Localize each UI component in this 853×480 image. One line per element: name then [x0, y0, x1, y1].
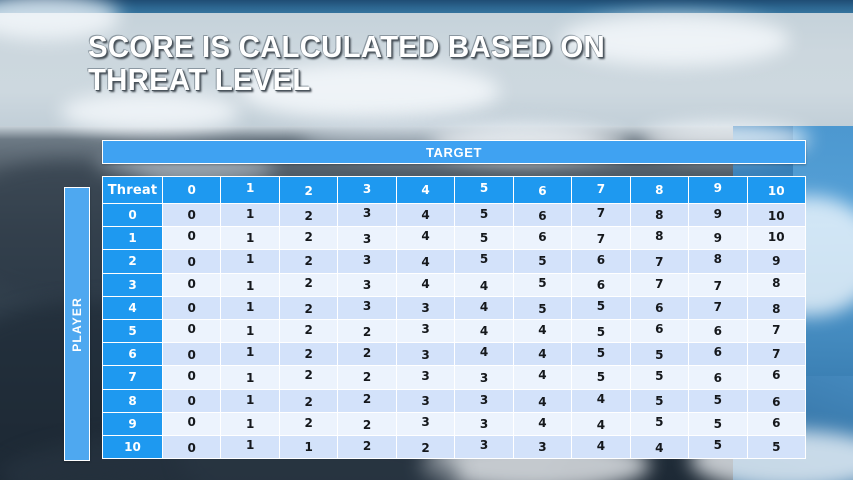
matrix-cell: 8 — [630, 204, 688, 227]
matrix-cell: 4 — [455, 273, 513, 296]
matrix-cell: 0 — [163, 296, 221, 319]
matrix-col-header: 6 — [513, 177, 571, 204]
matrix-cell: 3 — [338, 250, 396, 273]
matrix-cell: 6 — [513, 227, 571, 250]
matrix-cell: 6 — [689, 343, 747, 366]
matrix-cell: 3 — [396, 296, 454, 319]
matrix-cell: 2 — [279, 250, 337, 273]
matrix-cell: 0 — [163, 319, 221, 342]
matrix-cell: 2 — [279, 204, 337, 227]
matrix-cell: 2 — [279, 319, 337, 342]
matrix-cell: 5 — [455, 227, 513, 250]
matrix-cell: 1 — [221, 435, 279, 458]
page-title: SCORE IS CALCULATED BASED ON THREAT LEVE… — [88, 30, 696, 96]
player-axis-bar: PLAYER — [64, 187, 90, 461]
matrix-row-header: 10 — [103, 435, 163, 458]
matrix-col-header: 1 — [221, 177, 279, 204]
matrix-col-header: 8 — [630, 177, 688, 204]
matrix-cell: 2 — [279, 366, 337, 389]
matrix-cell: 9 — [689, 227, 747, 250]
matrix-cell: 5 — [747, 435, 805, 458]
matrix-cell: 4 — [572, 412, 630, 435]
matrix-cell: 7 — [630, 273, 688, 296]
matrix-cell: 5 — [630, 389, 688, 412]
table-row: 301234456778 — [103, 273, 806, 296]
table-row: 701223345566 — [103, 366, 806, 389]
matrix-cell: 4 — [572, 389, 630, 412]
matrix-cell: 2 — [338, 435, 396, 458]
matrix-body: 0012345678910101234567891020123455678930… — [103, 204, 806, 459]
matrix-cell: 4 — [513, 412, 571, 435]
matrix-cell: 4 — [396, 227, 454, 250]
matrix-cell: 6 — [630, 319, 688, 342]
matrix-cell: 2 — [279, 296, 337, 319]
matrix-cell: 2 — [338, 343, 396, 366]
matrix-cell: 1 — [279, 435, 337, 458]
matrix-cell: 1 — [221, 389, 279, 412]
matrix-cell: 5 — [689, 389, 747, 412]
matrix-cell: 7 — [689, 296, 747, 319]
matrix-cell: 5 — [455, 204, 513, 227]
matrix-row-header: 5 — [103, 319, 163, 342]
matrix-cell: 5 — [572, 343, 630, 366]
matrix-cell: 3 — [396, 366, 454, 389]
matrix-cell: 0 — [163, 389, 221, 412]
matrix-cell: 9 — [689, 204, 747, 227]
matrix-cell: 4 — [396, 250, 454, 273]
target-axis-label: TARGET — [426, 145, 482, 160]
matrix-cell: 5 — [630, 412, 688, 435]
matrix-cell: 4 — [630, 435, 688, 458]
matrix-col-header: 9 — [689, 177, 747, 204]
matrix-cell: 1 — [221, 366, 279, 389]
cloud-wisp-4 — [60, 92, 240, 132]
matrix-cell: 3 — [455, 366, 513, 389]
matrix-cell: 5 — [572, 366, 630, 389]
matrix-row-header: 2 — [103, 250, 163, 273]
matrix-cell: 3 — [513, 435, 571, 458]
matrix-cell: 6 — [689, 366, 747, 389]
top-blue-strip — [0, 0, 853, 13]
matrix-cell: 2 — [338, 319, 396, 342]
matrix-cell: 7 — [747, 343, 805, 366]
matrix-cell: 8 — [689, 250, 747, 273]
matrix-cell: 2 — [279, 273, 337, 296]
matrix-col-header: 2 — [279, 177, 337, 204]
matrix-cell: 1 — [221, 343, 279, 366]
matrix-col-header: 7 — [572, 177, 630, 204]
matrix-corner-header: Threat — [103, 177, 163, 204]
matrix-cell: 6 — [572, 273, 630, 296]
matrix-cell: 5 — [513, 250, 571, 273]
matrix-cell: 5 — [572, 296, 630, 319]
matrix-cell: 4 — [455, 319, 513, 342]
matrix-cell: 1 — [221, 204, 279, 227]
matrix-cell: 8 — [747, 273, 805, 296]
matrix-cell: 7 — [572, 204, 630, 227]
matrix-cell: 5 — [689, 435, 747, 458]
matrix-cell: 3 — [396, 343, 454, 366]
matrix-cell: 0 — [163, 366, 221, 389]
matrix-row-header: 8 — [103, 389, 163, 412]
matrix-cell: 3 — [455, 435, 513, 458]
matrix-cell: 4 — [513, 366, 571, 389]
matrix-cell: 1 — [221, 273, 279, 296]
matrix-cell: 3 — [396, 319, 454, 342]
matrix-row-header: 3 — [103, 273, 163, 296]
matrix-cell: 7 — [747, 319, 805, 342]
matrix-cell: 1 — [221, 250, 279, 273]
matrix-cell: 3 — [455, 389, 513, 412]
matrix-cell: 6 — [572, 250, 630, 273]
matrix-cell: 2 — [338, 412, 396, 435]
matrix-cell: 0 — [163, 273, 221, 296]
target-axis-bar: TARGET — [102, 140, 806, 164]
matrix-cell: 2 — [279, 412, 337, 435]
matrix-row-header: 0 — [103, 204, 163, 227]
matrix-cell: 2 — [279, 389, 337, 412]
matrix-cell: 3 — [338, 273, 396, 296]
table-row: 201234556789 — [103, 250, 806, 273]
matrix-col-header: 0 — [163, 177, 221, 204]
matrix-cell: 3 — [396, 412, 454, 435]
matrix-cell: 2 — [338, 389, 396, 412]
matrix-cell: 0 — [163, 343, 221, 366]
matrix-cell: 7 — [630, 250, 688, 273]
matrix-cell: 1 — [221, 412, 279, 435]
matrix-row-header: 9 — [103, 412, 163, 435]
matrix-col-header: 3 — [338, 177, 396, 204]
matrix-cell: 6 — [747, 389, 805, 412]
matrix-cell: 6 — [747, 412, 805, 435]
matrix-row-header: 1 — [103, 227, 163, 250]
matrix-cell: 4 — [455, 343, 513, 366]
matrix-cell: 2 — [396, 435, 454, 458]
matrix-cell: 8 — [630, 227, 688, 250]
matrix-cell: 6 — [689, 319, 747, 342]
matrix-row-header: 6 — [103, 343, 163, 366]
matrix-col-header: 5 — [455, 177, 513, 204]
matrix-cell: 4 — [513, 319, 571, 342]
table-row: 1012345678910 — [103, 227, 806, 250]
matrix-cell: 5 — [513, 296, 571, 319]
matrix-cell: 2 — [279, 343, 337, 366]
matrix-cell: 4 — [396, 204, 454, 227]
matrix-cell: 1 — [221, 296, 279, 319]
matrix-cell: 2 — [338, 366, 396, 389]
matrix-cell: 1 — [221, 319, 279, 342]
matrix-cell: 3 — [338, 227, 396, 250]
matrix-col-header: 10 — [747, 177, 805, 204]
table-row: 1001122334455 — [103, 435, 806, 458]
matrix-cell: 5 — [630, 343, 688, 366]
table-row: 601223445567 — [103, 343, 806, 366]
matrix-cell: 2 — [279, 227, 337, 250]
matrix-cell: 4 — [455, 296, 513, 319]
table-row: 401233455678 — [103, 296, 806, 319]
matrix-cell: 4 — [396, 273, 454, 296]
matrix-row-header: 4 — [103, 296, 163, 319]
table-row: 0012345678910 — [103, 204, 806, 227]
matrix-cell: 5 — [513, 273, 571, 296]
matrix-cell: 6 — [747, 366, 805, 389]
table-row: 501223445667 — [103, 319, 806, 342]
player-axis-label: PLAYER — [70, 297, 84, 352]
matrix-cell: 0 — [163, 250, 221, 273]
matrix-cell: 0 — [163, 227, 221, 250]
matrix-cell: 6 — [513, 204, 571, 227]
matrix-cell: 8 — [747, 296, 805, 319]
matrix-cell: 9 — [747, 250, 805, 273]
matrix-cell: 5 — [572, 319, 630, 342]
matrix-cell: 3 — [338, 296, 396, 319]
matrix-cell: 6 — [630, 296, 688, 319]
matrix-cell: 0 — [163, 435, 221, 458]
matrix-header-row: Threat 012345678910 — [103, 177, 806, 204]
matrix-cell: 10 — [747, 227, 805, 250]
matrix-cell: 3 — [455, 412, 513, 435]
matrix-cell: 0 — [163, 204, 221, 227]
matrix-cell: 4 — [513, 343, 571, 366]
matrix-cell: 4 — [572, 435, 630, 458]
matrix-cell: 5 — [630, 366, 688, 389]
matrix-cell: 3 — [338, 204, 396, 227]
matrix-cell: 10 — [747, 204, 805, 227]
matrix-cell: 7 — [572, 227, 630, 250]
matrix-cell: 1 — [221, 227, 279, 250]
matrix-row-header: 7 — [103, 366, 163, 389]
matrix-cell: 0 — [163, 412, 221, 435]
matrix-cell: 7 — [689, 273, 747, 296]
matrix-cell: 5 — [455, 250, 513, 273]
score-matrix: Threat 012345678910 00123456789101012345… — [102, 176, 806, 459]
matrix-col-header: 4 — [396, 177, 454, 204]
table-row: 901223344556 — [103, 412, 806, 435]
matrix-cell: 3 — [396, 389, 454, 412]
matrix-cell: 4 — [513, 389, 571, 412]
matrix-cell: 5 — [689, 412, 747, 435]
table-row: 801223344556 — [103, 389, 806, 412]
